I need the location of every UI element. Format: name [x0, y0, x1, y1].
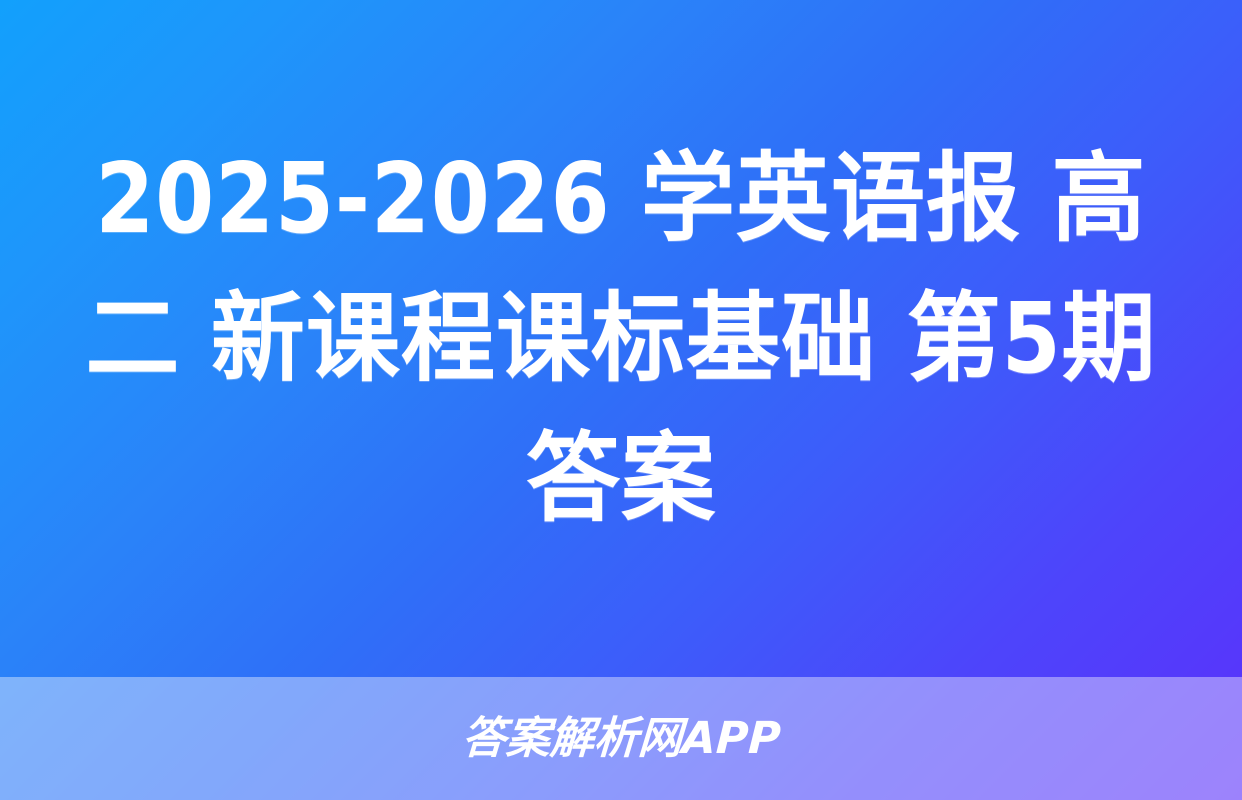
page-title: 2025-2026 学英语报 高二 新课程课标基础 第5期答案: [75, 129, 1167, 549]
footer-brand-band: 答案解析网APP: [0, 677, 1242, 800]
answer-card: 2025-2026 学英语报 高二 新课程课标基础 第5期答案 答案解析网APP: [0, 0, 1242, 800]
title-container: 2025-2026 学英语报 高二 新课程课标基础 第5期答案: [0, 0, 1242, 677]
footer-brand-label: 答案解析网APP: [461, 717, 782, 761]
